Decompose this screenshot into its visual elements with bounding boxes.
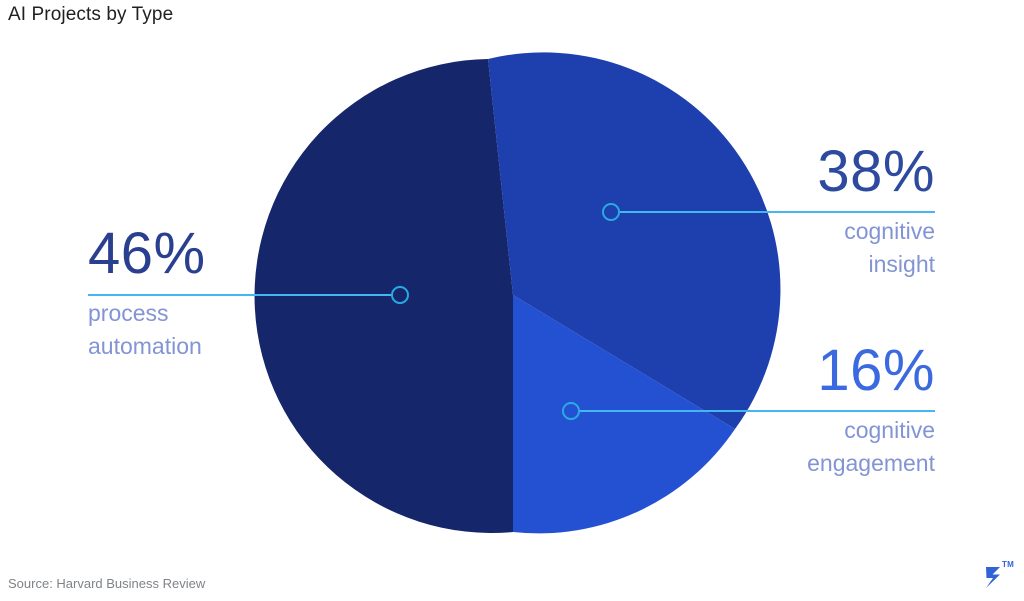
callout-value-cognitive-insight: 38% bbox=[676, 143, 935, 201]
callout-label-cognitive-engagement-line1: cognitive bbox=[676, 414, 935, 447]
trademark-symbol: TM bbox=[1002, 560, 1014, 569]
source-note: Source: Harvard Business Review bbox=[8, 576, 205, 591]
callout-label-process-automation-line1: process bbox=[88, 297, 408, 330]
callout-label-cognitive-insight-line2: insight bbox=[676, 248, 935, 281]
callout-label-cognitive-engagement-line2: engagement bbox=[676, 447, 935, 480]
callout-value-process-automation: 46% bbox=[88, 225, 408, 283]
callout-label-cognitive-insight-line1: cognitive bbox=[676, 215, 935, 248]
callout-process-automation: 46% process automation bbox=[88, 225, 408, 362]
chart-page: AI Projects by Type 38% cognitive insigh… bbox=[0, 0, 1024, 601]
callout-cognitive-engagement: 16% cognitive engagement bbox=[676, 342, 935, 479]
callout-value-cognitive-engagement: 16% bbox=[676, 342, 935, 400]
callout-cognitive-insight: 38% cognitive insight bbox=[676, 143, 935, 280]
callout-label-process-automation-line2: automation bbox=[88, 330, 408, 363]
